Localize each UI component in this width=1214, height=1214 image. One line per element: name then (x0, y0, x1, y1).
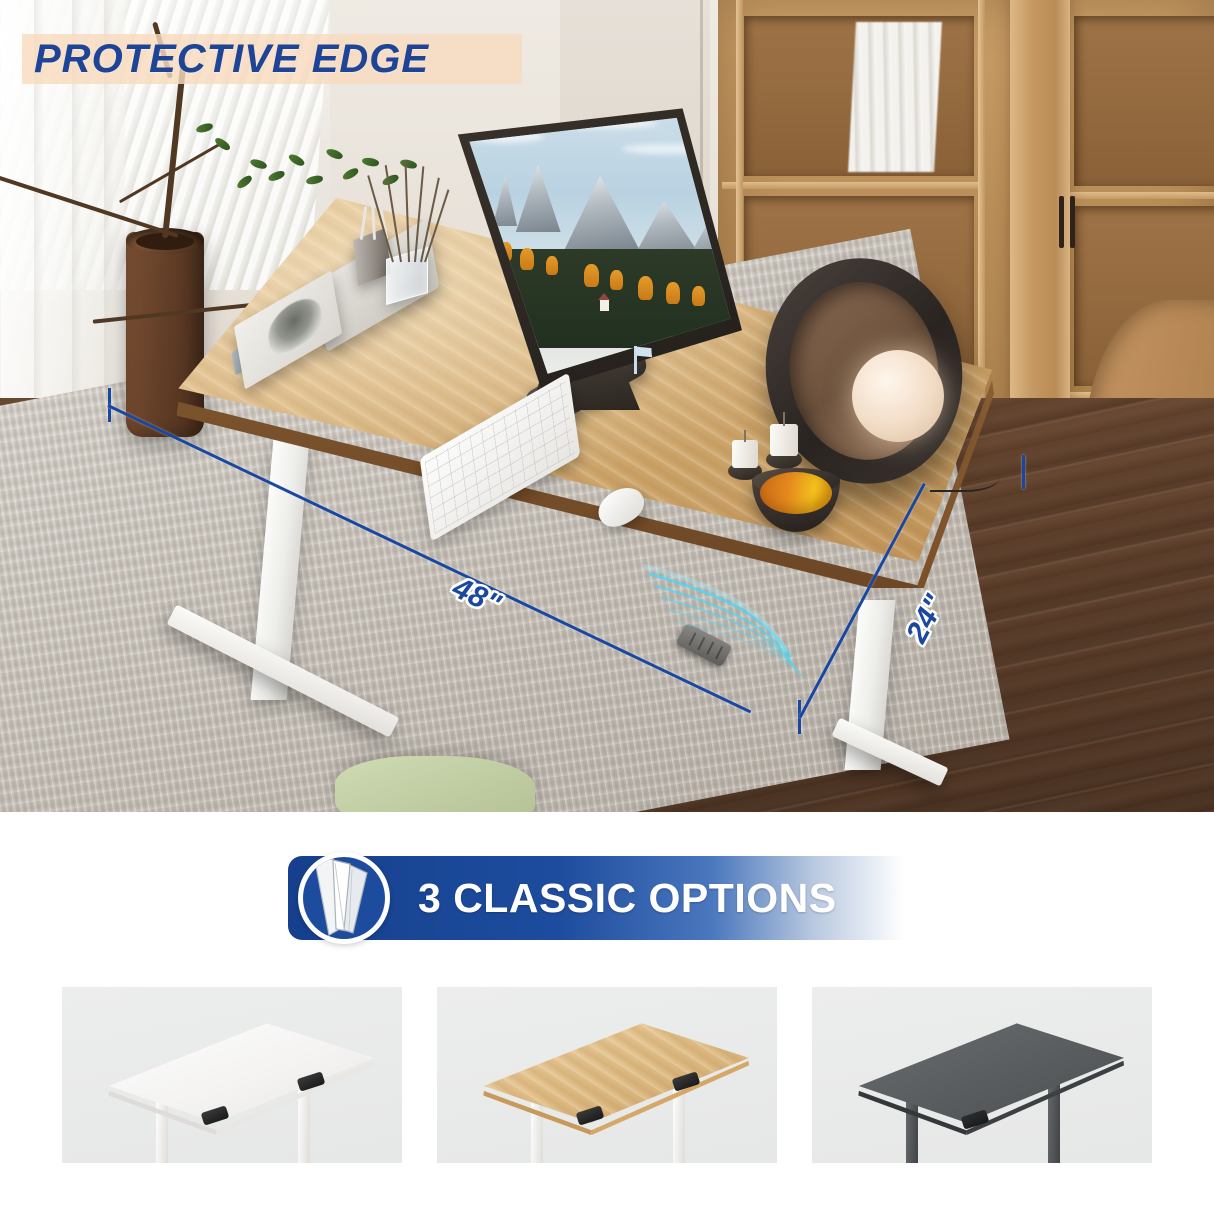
decor-ball (760, 472, 832, 514)
shelf-cell (1074, 16, 1214, 186)
fanned-panels-icon (303, 857, 385, 939)
candle (732, 440, 758, 468)
variant-leg (906, 1099, 918, 1163)
candle-wick (783, 412, 785, 426)
shelf-rail (1066, 192, 1214, 199)
lamp-orb (852, 350, 944, 442)
lamp-cord (930, 462, 1000, 492)
door-handle (1059, 196, 1064, 248)
door-handle (1070, 196, 1075, 248)
green-ottoman (335, 756, 535, 812)
variant-oak-desk[interactable] (437, 987, 777, 1163)
wallpaper-chapel (600, 300, 609, 311)
candle-wick (744, 430, 746, 442)
variant-desktop (92, 1019, 374, 1127)
wallpaper-chapel-roof (598, 293, 610, 300)
product-marketing-image: 48" 24" PROTECTIVE EDGE 3 CLASSIC OPTION… (0, 0, 1214, 1214)
options-section: 3 CLASSIC OPTIONS (0, 812, 1214, 1214)
shelf-rail (722, 182, 984, 189)
variant-gallery (0, 987, 1214, 1197)
variant-leg (531, 1099, 543, 1163)
shelf-books (848, 22, 942, 172)
dimension-tick-right (1022, 455, 1025, 489)
variant-white-desk[interactable] (62, 987, 402, 1163)
variant-leg (156, 1099, 168, 1163)
variant-black-desk[interactable] (812, 987, 1152, 1163)
options-banner-title: 3 CLASSIC OPTIONS (418, 870, 837, 926)
hero-lifestyle-scene: 48" 24" PROTECTIVE EDGE (0, 0, 1214, 812)
variant-wood-grain (467, 1019, 749, 1127)
candle (770, 424, 798, 456)
page-title: PROTECTIVE EDGE (34, 33, 429, 85)
